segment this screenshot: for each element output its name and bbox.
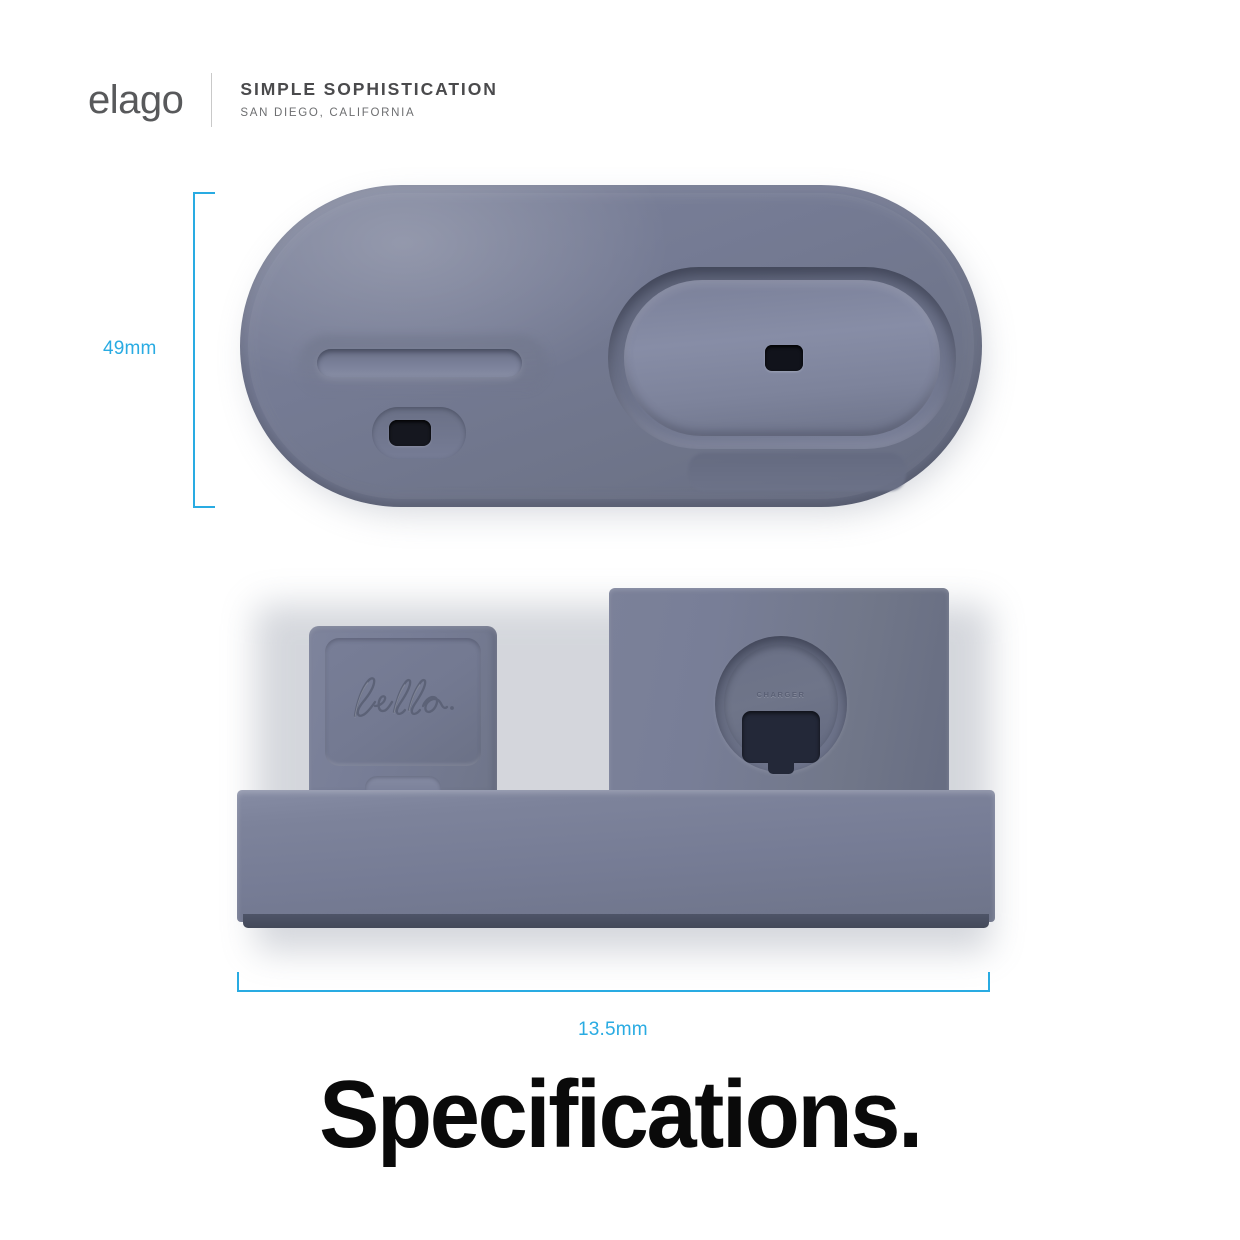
brand-tagline: SIMPLE SOPHISTICATION xyxy=(240,79,497,101)
brand-location: SAN DIEGO, CALIFORNIA xyxy=(240,106,497,121)
hello-script-emboss-icon xyxy=(349,676,459,724)
product-top-view xyxy=(240,185,982,507)
brand-header: elago SIMPLE SOPHISTICATION SAN DIEGO, C… xyxy=(88,72,498,128)
elago-logo: elago xyxy=(88,80,211,120)
dimension-bracket-height xyxy=(193,192,215,508)
front-charger-slot-icon xyxy=(742,711,820,763)
front-base-foot xyxy=(243,914,989,928)
top-view-phone-groove xyxy=(317,349,522,377)
product-front-view: CHARGER xyxy=(237,578,997,958)
dimension-bracket-width xyxy=(237,972,990,992)
brand-tagline-block: SIMPLE SOPHISTICATION SAN DIEGO, CALIFOR… xyxy=(212,79,497,121)
dimension-label-width: 13.5mm xyxy=(578,1019,648,1041)
front-base-block xyxy=(237,790,995,922)
page-title: Specifications. xyxy=(37,1062,1203,1168)
top-view-charger-hole-icon xyxy=(765,345,803,371)
dimension-label-height: 49mm xyxy=(103,338,157,360)
front-charger-label: CHARGER xyxy=(724,690,838,699)
front-charger-slot-tab-icon xyxy=(768,758,794,774)
top-view-ledge xyxy=(688,453,906,491)
top-view-cable-port-icon xyxy=(389,420,431,446)
